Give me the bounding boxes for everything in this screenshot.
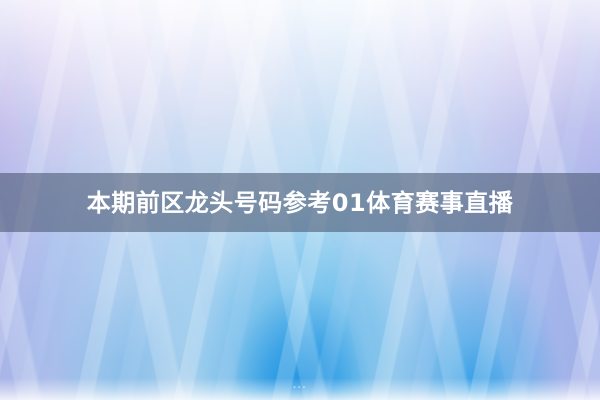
watermark-text: ··· [293,382,307,394]
caption-text: 本期前区龙头号码参考01体育赛事直播 [87,191,513,215]
caption-band: 本期前区龙头号码参考01体育赛事直播 [0,173,600,232]
decorative-banner: 本期前区龙头号码参考01体育赛事直播 ··· [0,0,600,400]
